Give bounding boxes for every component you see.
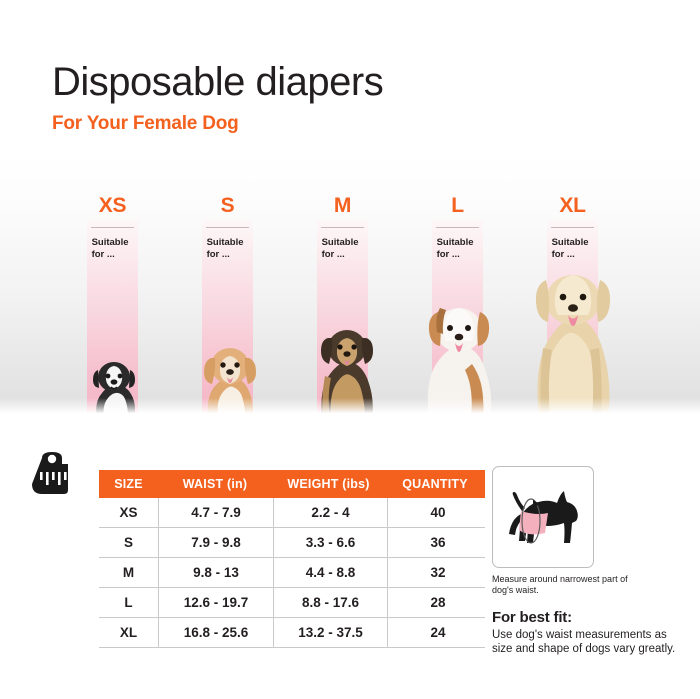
cell-waist: 4.7 - 7.9 (158, 498, 273, 527)
table-row: XL 16.8 - 25.6 13.2 - 37.5 24 (99, 618, 485, 648)
table-header-quantity: QUANTITY (385, 477, 485, 491)
size-table: SIZE WAIST (in) WEIGHT (ibs) QUANTITY XS… (99, 470, 485, 648)
fit-info-panel: Measure around narrowest part of dog's w… (492, 466, 692, 656)
table-header-weight: WEIGHT (ibs) (272, 477, 385, 491)
size-column-l: L Suitable for ... (432, 155, 483, 420)
size-divider-xs (91, 227, 134, 228)
size-comparison-band: XS Suitable for ... (0, 155, 700, 420)
cell-quantity: 32 (387, 558, 488, 587)
size-divider-xl (551, 227, 594, 228)
size-label-s: S (202, 194, 253, 218)
size-divider-s (206, 227, 249, 228)
table-header-size: SIZE (99, 477, 158, 491)
cell-quantity: 28 (387, 588, 488, 617)
size-divider-m (321, 227, 364, 228)
page-header: Disposable diapers For Your Female Dog (52, 58, 652, 136)
size-suitable-s: Suitable for ... (207, 237, 254, 260)
size-suitable-m: Suitable for ... (322, 237, 369, 260)
page-title: Disposable diapers (52, 58, 652, 106)
cell-quantity: 36 (387, 528, 488, 557)
table-header-waist: WAIST (in) (158, 477, 272, 491)
size-chart-page: Disposable diapers For Your Female Dog X… (0, 0, 700, 699)
cell-size: XS (99, 498, 158, 527)
cell-waist: 12.6 - 19.7 (158, 588, 273, 617)
cell-waist: 16.8 - 25.6 (158, 618, 273, 647)
cell-waist: 9.8 - 13 (158, 558, 273, 587)
size-column-m: M Suitable for ... (317, 155, 368, 420)
size-column-xs: XS Suitable for ... (87, 155, 138, 420)
table-row: M 9.8 - 13 4.4 - 8.8 32 (99, 558, 485, 588)
size-label-xs: XS (87, 194, 138, 218)
size-suitable-l: Suitable for ... (437, 237, 484, 260)
cell-size: XL (99, 618, 158, 647)
table-row: XS 4.7 - 7.9 2.2 - 4 40 (99, 498, 485, 528)
cell-weight: 4.4 - 8.8 (273, 558, 387, 587)
cell-weight: 2.2 - 4 (273, 498, 387, 527)
table-row: S 7.9 - 9.8 3.3 - 6.6 36 (99, 528, 485, 558)
size-suitable-xs: Suitable for ... (92, 237, 139, 260)
cell-weight: 13.2 - 37.5 (273, 618, 387, 647)
best-fit-body: Use dog's waist measurements as size and… (492, 628, 688, 656)
cell-weight: 8.8 - 17.6 (273, 588, 387, 617)
table-row: L 12.6 - 19.7 8.8 - 17.6 28 (99, 588, 485, 618)
cell-waist: 7.9 - 9.8 (158, 528, 273, 557)
dog-photo-xl (521, 252, 625, 420)
cell-size: L (99, 588, 158, 617)
size-column-s: S Suitable for ... (202, 155, 253, 420)
tape-measure-icon (32, 450, 90, 502)
size-label-xl: XL (547, 194, 598, 218)
cell-size: M (99, 558, 158, 587)
cell-quantity: 40 (387, 498, 488, 527)
size-divider-l (436, 227, 479, 228)
cell-quantity: 24 (387, 618, 488, 647)
cell-weight: 3.3 - 6.6 (273, 528, 387, 557)
hero-floor-fade (0, 398, 700, 420)
size-column-xl: XL Suitable for ... (547, 155, 598, 420)
measure-caption: Measure around narrowest part of dog's w… (492, 574, 642, 596)
size-label-l: L (432, 194, 483, 218)
cell-size: S (99, 528, 158, 557)
best-fit-title: For best fit: (492, 609, 692, 626)
dog-waist-measure-icon (492, 466, 594, 568)
page-subtitle: For Your Female Dog (52, 112, 652, 136)
table-header-row: SIZE WAIST (in) WEIGHT (ibs) QUANTITY (99, 470, 485, 498)
size-label-m: M (317, 194, 368, 218)
